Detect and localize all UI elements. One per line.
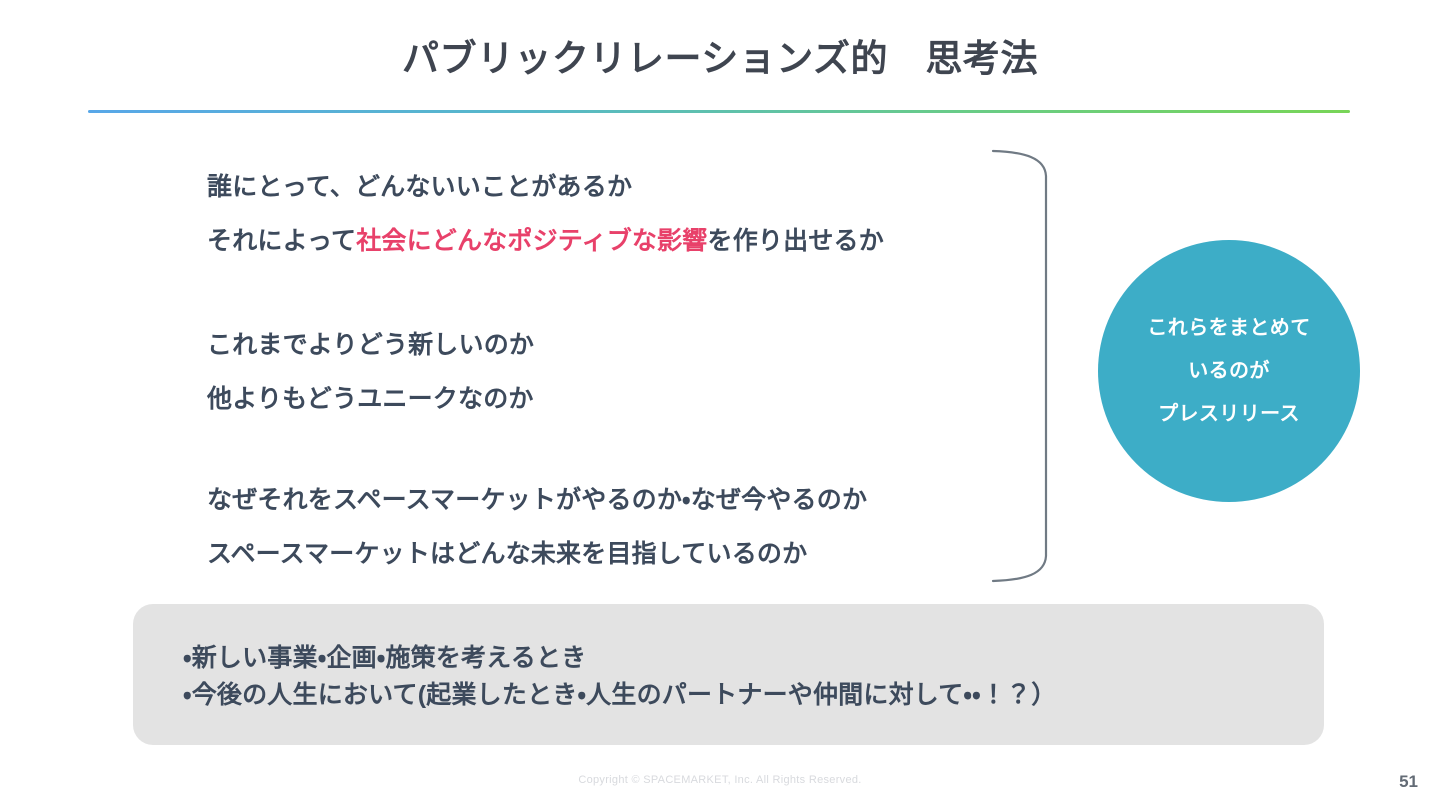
slide-canvas: パブリックリレーションズ的 思考法 誰にとって、どんないいことがあるか それによ…: [0, 0, 1440, 810]
question-line-who-benefits: 誰にとって、どんないいことがあるか: [207, 160, 884, 214]
question-block-benefit: 誰にとって、どんないいことがあるか それによって社会にどんなポジティブな影響を作…: [207, 160, 884, 268]
circle-callout-line-1: これらをまとめて: [1147, 307, 1310, 350]
page-title: パブリックリレーションズ的 思考法: [0, 28, 1440, 82]
circle-callout-line-2: いるのが: [1188, 350, 1270, 393]
question-text-prefix: それによって: [207, 227, 356, 255]
question-line-how-new: これまでよりどう新しいのか: [207, 318, 534, 372]
question-line-social-impact: それによって社会にどんなポジティブな影響を作り出せるか: [207, 214, 884, 268]
panel-bullet-new-business: ・新しい事業・企画・施策を考えるとき: [183, 640, 1056, 677]
question-line-how-unique: 他よりもどうユニークなのか: [207, 372, 534, 426]
press-release-circle-callout: これらをまとめて いるのが プレスリリース: [1098, 240, 1360, 502]
circle-callout-line-3: プレスリリース: [1158, 393, 1300, 436]
page-number: 51: [1399, 772, 1418, 792]
question-line-why-now: なぜそれをスペースマーケットがやるのか・なぜ今やるのか: [207, 473, 867, 527]
title-divider-rule: [88, 110, 1350, 113]
usage-context-panel-text: ・新しい事業・企画・施策を考えるとき ・今後の人生において(起業したとき・人生の…: [183, 640, 1056, 714]
question-block-novelty: これまでよりどう新しいのか 他よりもどうユニークなのか: [207, 318, 534, 426]
right-bracket-icon: [985, 142, 1055, 590]
question-block-why-us: なぜそれをスペースマーケットがやるのか・なぜ今やるのか スペースマーケットはどん…: [207, 473, 867, 581]
question-text-accent: 社会にどんなポジティブな影響: [356, 227, 707, 255]
panel-bullet-future-life: ・今後の人生において(起業したとき・人生のパートナーや仲間に対して・・！？）: [183, 677, 1056, 714]
question-text-suffix: を作り出せるか: [708, 227, 884, 255]
copyright-notice: Copyright © SPACEMARKET, Inc. All Rights…: [0, 774, 1440, 786]
question-line-future-vision: スペースマーケットはどんな未来を目指しているのか: [207, 527, 867, 581]
